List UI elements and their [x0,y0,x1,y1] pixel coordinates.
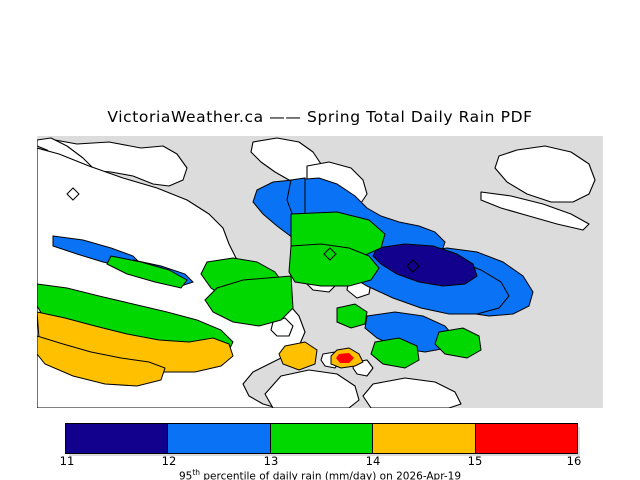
colorbar-tick-12: 12 [162,454,177,468]
colorbar-tick-14: 14 [366,454,381,468]
colorbar-segment-14-15[interactable] [373,424,475,453]
colorbar-caption-rest: percentile of daily rain (mm/day) on 202… [200,471,461,480]
colorbar-segment-15-16[interactable] [476,424,577,453]
map-panel[interactable] [37,136,603,408]
colorbar-ticks: 11 12 13 14 15 16 [0,454,640,468]
colorbar-area: 11 12 13 14 15 16 95th percentile of dai… [0,414,640,480]
colorbar-tick-13: 13 [264,454,279,468]
colorbar-tick-16: 16 [567,454,582,468]
colorbar-caption: 95th percentile of daily rain (mm/day) o… [0,468,640,480]
colorbar-caption-superscript: th [192,468,200,477]
colorbar-segment-13-14[interactable] [271,424,373,453]
weather-map-figure: VictoriaWeather.ca —— Spring Total Daily… [0,0,640,480]
colorbar-segment-11-12[interactable] [66,424,168,453]
colorbar-segment-12-13[interactable] [168,424,270,453]
colorbar-tick-15: 15 [468,454,483,468]
page-title: VictoriaWeather.ca —— Spring Total Daily… [0,108,640,126]
colorbar-tick-11: 11 [60,454,75,468]
colorbar[interactable] [65,423,578,454]
coastline-map [37,136,603,408]
colorbar-caption-prefix: 95 [179,471,192,480]
